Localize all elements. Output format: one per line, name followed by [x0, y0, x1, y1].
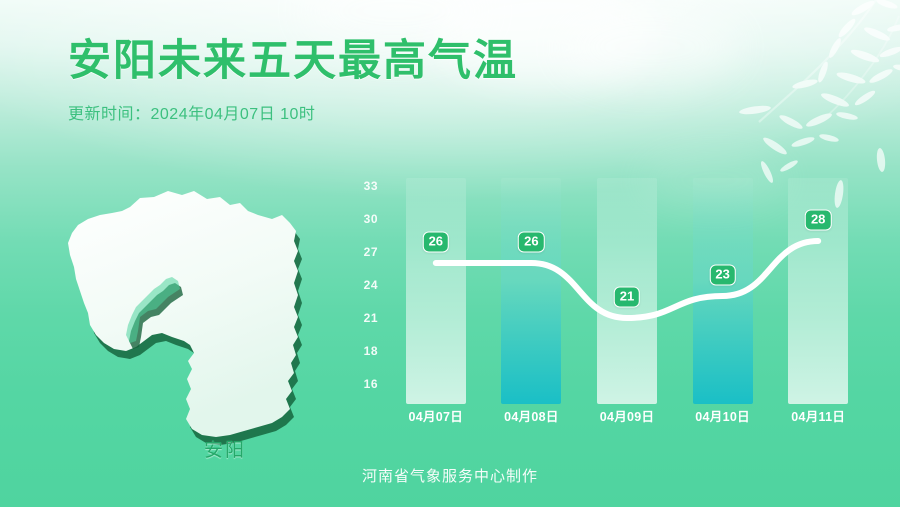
anyang-map: 安阳: [44, 178, 334, 450]
update-time: 更新时间：2024年04月07日 10时: [68, 100, 518, 124]
value-badge: 26: [423, 232, 449, 253]
cloud-decoration: [560, 6, 740, 88]
anyang-map-shape: [44, 178, 334, 450]
header: 安阳未来五天最高气温 更新时间：2024年04月07日 10时: [68, 36, 518, 124]
x-axis-tick: 04月08日: [504, 406, 559, 425]
weather-poster: 安阳未来五天最高气温 更新时间：2024年04月07日 10时 安阳 33302…: [0, 0, 900, 507]
value-badge: 21: [614, 287, 640, 308]
y-axis-tick: 16: [364, 377, 378, 391]
plot-area: 2626212328: [388, 176, 866, 404]
temperature-chart: 33302724211816 2626212328 04月07日04月08日04…: [336, 176, 866, 418]
footer-credit: 河南省气象服务中心制作: [0, 465, 900, 486]
x-axis-tick: 04月10日: [695, 406, 750, 425]
y-axis-tick: 18: [364, 344, 378, 358]
y-axis-tick: 27: [364, 245, 378, 259]
y-axis-tick: 24: [364, 278, 378, 292]
value-badge: 23: [709, 265, 735, 286]
y-axis: 33302724211816: [336, 176, 382, 418]
y-axis-tick: 33: [364, 179, 378, 193]
value-badge: 26: [518, 232, 544, 253]
value-badge: 28: [805, 210, 831, 231]
x-axis: 04月07日04月08日04月09日04月10日04月11日: [388, 404, 866, 426]
y-axis-tick: 30: [364, 212, 378, 226]
y-axis-tick: 21: [364, 311, 378, 325]
x-axis-tick: 04月11日: [791, 406, 845, 425]
x-axis-tick: 04月09日: [600, 406, 655, 425]
x-axis-tick: 04月07日: [408, 406, 463, 425]
map-region-label: 安阳: [204, 435, 246, 462]
page-title: 安阳未来五天最高气温: [68, 36, 518, 86]
